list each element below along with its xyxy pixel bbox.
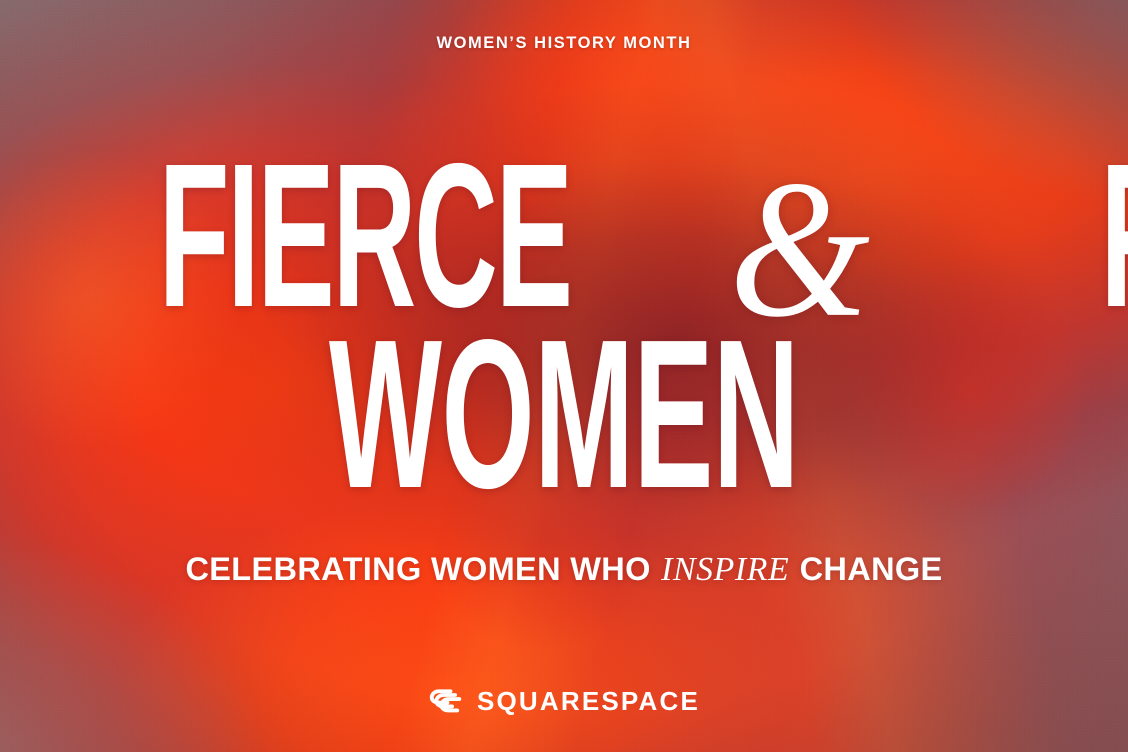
poster-content: WOMEN’S HISTORY MONTH FIERCE&FEARLESS WO… <box>0 0 1128 752</box>
subtitle-text-after: CHANGE <box>790 551 942 587</box>
headline-word-fearless: FEARLESS <box>1100 152 1128 320</box>
squarespace-logo-icon <box>428 684 464 718</box>
squarespace-wordmark: SQUARESPACE <box>477 688 700 715</box>
headline-word-women: WOMEN <box>329 327 799 501</box>
subtitle: CELEBRATING WOMEN WHO INSPIRE CHANGE <box>0 551 1128 589</box>
headline-line-2: WOMEN <box>0 327 1128 501</box>
squarespace-logo-lockup[interactable]: SQUARESPACE <box>0 684 1128 718</box>
subtitle-text-before: CELEBRATING WOMEN WHO <box>185 551 660 587</box>
subtitle-emphasis-inspire: INSPIRE <box>660 551 790 588</box>
eyebrow-label: WOMEN’S HISTORY MONTH <box>0 34 1128 53</box>
women-history-month-poster: WOMEN’S HISTORY MONTH FIERCE&FEARLESS WO… <box>0 0 1128 752</box>
